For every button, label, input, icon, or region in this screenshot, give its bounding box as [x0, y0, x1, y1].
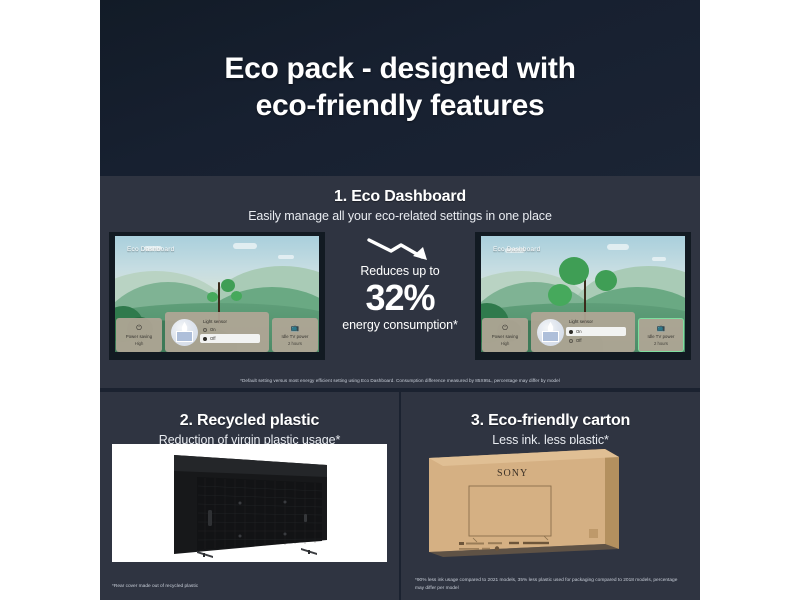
lower-sections: 2. Recycled plastic Reduction of virgin … [100, 392, 700, 600]
tree-leaf-icon [231, 291, 242, 301]
radio-option-on[interactable]: On [566, 327, 626, 336]
section2-footnote: *Rear cover made out of recycled plastic [112, 583, 387, 590]
tile-light-sensor-label: Light sensor [569, 319, 629, 324]
power-icon: ⏻ [502, 325, 508, 332]
section3-footnote: *90% less ink usage compared to 2021 mod… [415, 577, 687, 592]
cloud-icon [607, 244, 629, 250]
tile-idle-tv-power[interactable]: 📺 Idle TV power 2 hours [272, 318, 318, 352]
section-eco-dashboard: 1. Eco Dashboard Easily manage all your … [100, 176, 700, 388]
tree-leaf-icon [548, 284, 572, 306]
stat-value: 32% [365, 279, 434, 317]
tile-light-sensor[interactable]: Light sensor On Off [531, 312, 635, 352]
tree-leaf-icon [221, 279, 235, 292]
eco-pack-banner: Eco pack - designed with eco-friendly fe… [100, 0, 700, 600]
radio-icon [569, 330, 573, 334]
eco-dashboard-screenshot-before: Eco Dashboard ⏻ Power saving High [109, 232, 325, 360]
tree-leaf-icon [595, 270, 617, 291]
tile-idle-tv-power-label: Idle TV power [647, 334, 674, 339]
radio-option-off-label: Off [576, 338, 582, 343]
radio-icon [569, 339, 573, 343]
hero-section: Eco pack - designed with eco-friendly fe… [100, 0, 700, 176]
cloud-icon [652, 257, 666, 261]
hero-title-line-2: eco-friendly features [224, 88, 575, 125]
section1-title: 1. Eco Dashboard [100, 188, 700, 206]
light-sensor-orb-icon [171, 319, 198, 346]
tv-screen-left: Eco Dashboard ⏻ Power saving High [115, 236, 319, 352]
light-sensor-orb-icon [537, 319, 564, 346]
idle-tv-icon: 📺 [657, 325, 666, 332]
light-sensor-control: Light sensor On Off [569, 319, 629, 345]
section1-subtitle: Easily manage all your eco-related setti… [100, 209, 700, 223]
radio-option-off[interactable]: Off [569, 338, 629, 343]
cloud-icon [233, 243, 257, 249]
radio-option-off-label: Off [210, 336, 216, 341]
page-title: Eco pack - designed with eco-friendly fe… [200, 51, 599, 124]
eco-dashboard-tiles-left: ⏻ Power saving High Light sensor [115, 312, 319, 352]
eco-dashboard-tiles-right: ⏻ Power saving High Light sensor [481, 312, 685, 352]
section1-footnote: *Default setting versus most energy effi… [100, 378, 700, 383]
carton-illustration: SONY [413, 444, 688, 562]
tile-idle-tv-power-label: Idle TV power [281, 334, 308, 339]
screenshot-root: Eco pack - designed with eco-friendly fe… [0, 0, 800, 600]
section2-title: 2. Recycled plastic [112, 412, 387, 430]
eco-carton-image-frame: SONY [413, 444, 688, 562]
energy-reduction-stat: Reduces up to 32% energy consumption* [325, 232, 475, 332]
tile-power-saving-label: Power saving [126, 334, 152, 339]
section2-heading-group: 2. Recycled plastic Reduction of virgin … [112, 400, 387, 447]
radio-icon [203, 328, 207, 332]
radio-option-on-label: On [576, 329, 582, 334]
section3-heading-group: 3. Eco-friendly carton Less ink, less pl… [413, 400, 688, 447]
radio-option-on[interactable]: On [203, 327, 263, 332]
tile-light-sensor[interactable]: Light sensor On Off [165, 312, 269, 352]
tile-power-saving[interactable]: ⏻ Power saving High [482, 318, 528, 352]
tile-idle-tv-power-value: 2 hours [288, 341, 302, 346]
section3-title: 3. Eco-friendly carton [413, 412, 688, 430]
sony-brand-label: SONY [497, 468, 528, 479]
light-sensor-control: Light sensor On Off [203, 319, 263, 345]
tree-leaf-icon [207, 292, 218, 302]
card-shape [542, 331, 559, 342]
hero-title-line-1: Eco pack - designed with [224, 51, 575, 88]
stat-top-text: Reduces up to [360, 264, 439, 278]
idle-tv-icon: 📺 [291, 325, 300, 332]
tile-power-saving-value: High [501, 341, 510, 346]
tv-rear-cover-photo [112, 444, 387, 562]
section-recycled-plastic: 2. Recycled plastic Reduction of virgin … [100, 392, 399, 600]
tile-power-saving-value: High [135, 341, 144, 346]
radio-option-on-label: On [210, 327, 216, 332]
section1-heading-group: 1. Eco Dashboard Easily manage all your … [100, 176, 700, 223]
card-shape [176, 331, 193, 342]
tile-idle-tv-power-value: 2 hours [654, 341, 668, 346]
eco-dashboard-screenshot-after: Eco Dashboard ⏻ Power saving High [475, 232, 691, 360]
power-icon: ⏻ [136, 325, 142, 332]
cloud-icon [278, 255, 294, 259]
section1-body: Eco Dashboard ⏻ Power saving High [100, 232, 700, 366]
tv-screen-right: Eco Dashboard ⏻ Power saving High [481, 236, 685, 352]
stat-bottom-text: energy consumption* [342, 318, 458, 332]
tile-idle-tv-power[interactable]: 📺 Idle TV power 2 hours [638, 318, 684, 352]
recycled-plastic-image-frame [112, 444, 387, 562]
tree-leaf-icon [559, 257, 589, 285]
down-trend-arrow-icon [365, 236, 435, 262]
eco-dashboard-screen-label: Eco Dashboard [493, 246, 540, 253]
eco-dashboard-screen-label: Eco Dashboard [127, 246, 174, 253]
tile-power-saving-label: Power saving [492, 334, 518, 339]
tv-rear-illustration [112, 444, 387, 562]
radio-icon [203, 337, 207, 341]
eco-carton-box-illustration: SONY [413, 444, 688, 562]
section-eco-carton: 3. Eco-friendly carton Less ink, less pl… [401, 392, 700, 600]
radio-option-off[interactable]: Off [200, 334, 260, 343]
tile-power-saving[interactable]: ⏻ Power saving High [116, 318, 162, 352]
tile-light-sensor-label: Light sensor [203, 319, 263, 324]
